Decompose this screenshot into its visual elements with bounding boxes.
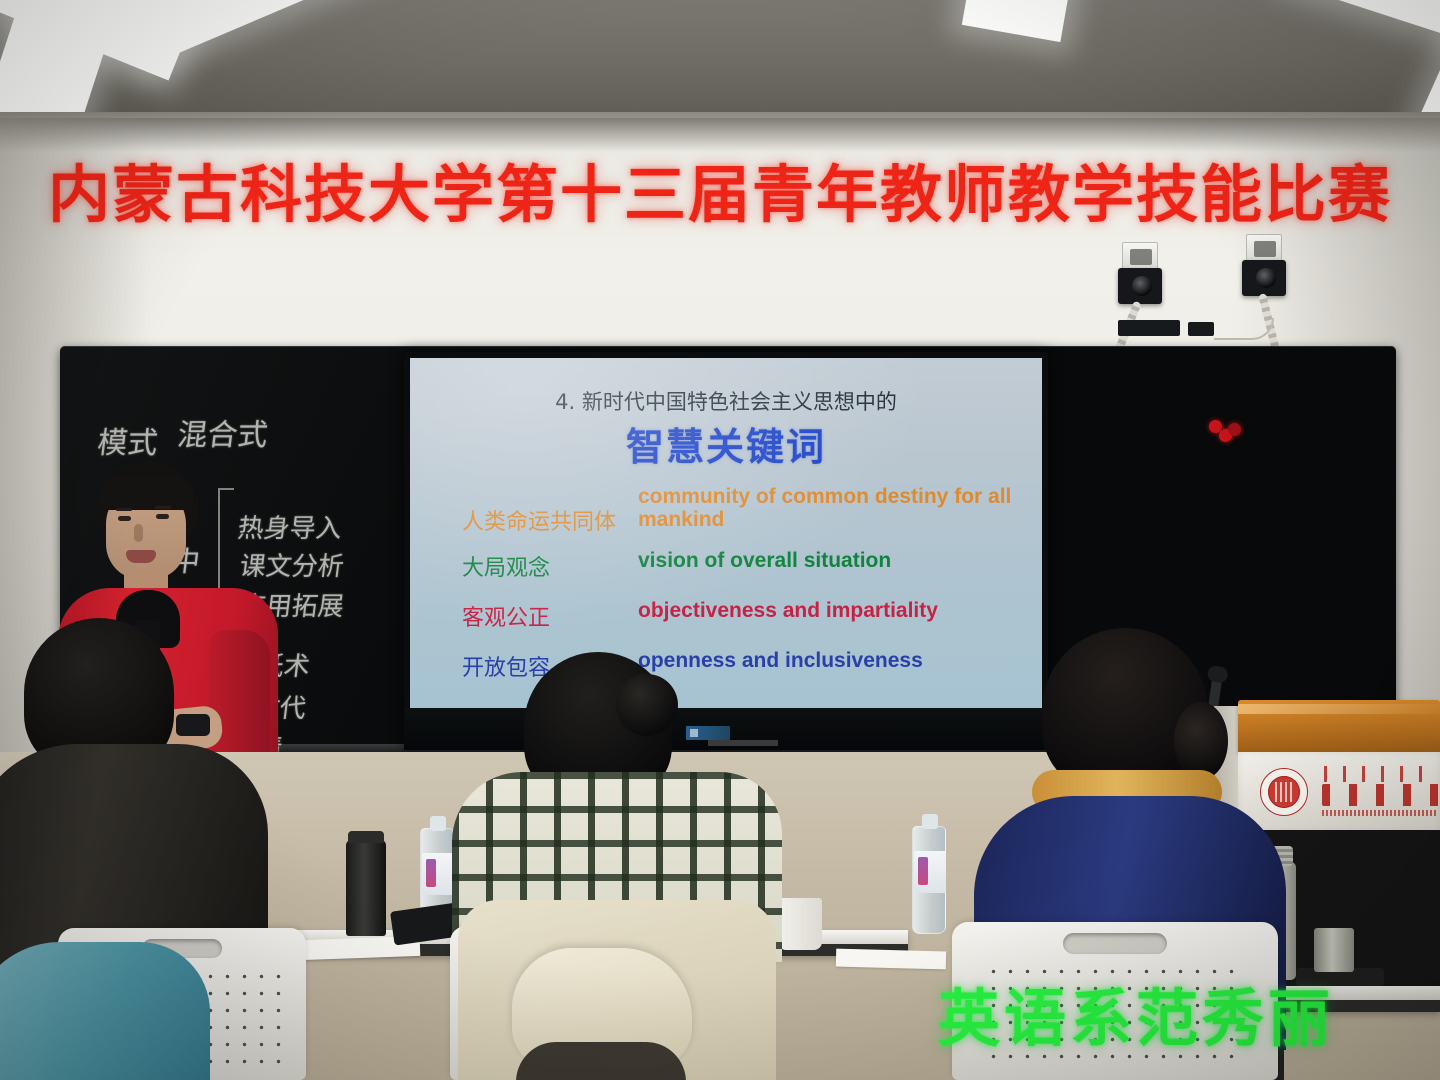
teacher-hair-fringe bbox=[98, 476, 194, 510]
slide-keyword-cn: 客观公正 bbox=[462, 600, 642, 632]
person-hair-bun bbox=[616, 674, 678, 736]
chalk-text: 混合式 bbox=[175, 410, 270, 454]
person-hair-curl bbox=[1174, 702, 1228, 780]
slide-keyword-en: objectiveness and impartiality bbox=[638, 600, 1038, 623]
chalk-text: 模式 bbox=[95, 418, 160, 462]
camera-lens-icon bbox=[1256, 268, 1276, 288]
slide-keyword-row: 客观公正objectiveness and impartiality bbox=[410, 600, 1042, 650]
slide-headline: 智慧关键词 bbox=[410, 416, 1042, 471]
paper-stack[interactable] bbox=[836, 949, 946, 970]
chair-handle bbox=[1063, 933, 1167, 954]
slide-keyword-row: 人类命运共同体community of common destiny for a… bbox=[410, 484, 1042, 550]
wall-outlet-box bbox=[1118, 320, 1180, 336]
teacher-eyebrow bbox=[116, 508, 132, 511]
presenter-name-overlay: 英语系范秀丽 bbox=[938, 968, 1334, 1058]
competition-banner-overlay: 内蒙古科技大学第十三届青年教师教学技能比赛 bbox=[0, 144, 1440, 234]
podium-university-name bbox=[1322, 784, 1440, 806]
teacher-eyebrow bbox=[155, 506, 171, 509]
podium-english-name bbox=[1322, 810, 1438, 816]
black-thermos[interactable] bbox=[346, 840, 386, 936]
audience-person-foreground-teal bbox=[0, 942, 210, 1080]
classroom-photo: 内蒙古科技大学第十三届青年教师教学技能比赛 模式混合式前中热身导入课文分析应用拓… bbox=[0, 0, 1440, 1080]
bottle-label bbox=[422, 853, 454, 895]
camera-lens-icon bbox=[1132, 276, 1152, 296]
paper-cup[interactable] bbox=[778, 898, 822, 950]
camera-body bbox=[1118, 268, 1162, 304]
slide-subheading: 4. 新时代中国特色社会主义思想中的 bbox=[410, 386, 1042, 416]
camera-body bbox=[1242, 260, 1286, 296]
blackboard-magnets bbox=[1209, 418, 1241, 444]
podium-mongolian-script bbox=[1324, 766, 1436, 782]
teacher-eye bbox=[156, 514, 169, 519]
teacher-mouth bbox=[126, 550, 156, 563]
slide-keyword-cn: 大局观念 bbox=[462, 550, 642, 582]
slide-keyword-en: community of common destiny for all mank… bbox=[638, 486, 1038, 531]
teacher-nose bbox=[134, 524, 143, 542]
teacher-eye bbox=[118, 516, 131, 521]
camera-mount bbox=[1122, 242, 1158, 270]
camera-mount bbox=[1246, 234, 1282, 262]
slide-keyword-cn: 人类命运共同体 bbox=[462, 504, 642, 536]
steel-cup[interactable] bbox=[1314, 928, 1354, 972]
bottle-label bbox=[914, 851, 946, 893]
wall-outlet-box bbox=[1188, 322, 1214, 336]
slide-keyword-en: vision of overall situation bbox=[638, 550, 1038, 573]
water-bottle[interactable] bbox=[912, 826, 946, 934]
slide-keyword-row: 大局观念vision of overall situation bbox=[410, 550, 1042, 600]
coat-lining bbox=[516, 1042, 686, 1080]
